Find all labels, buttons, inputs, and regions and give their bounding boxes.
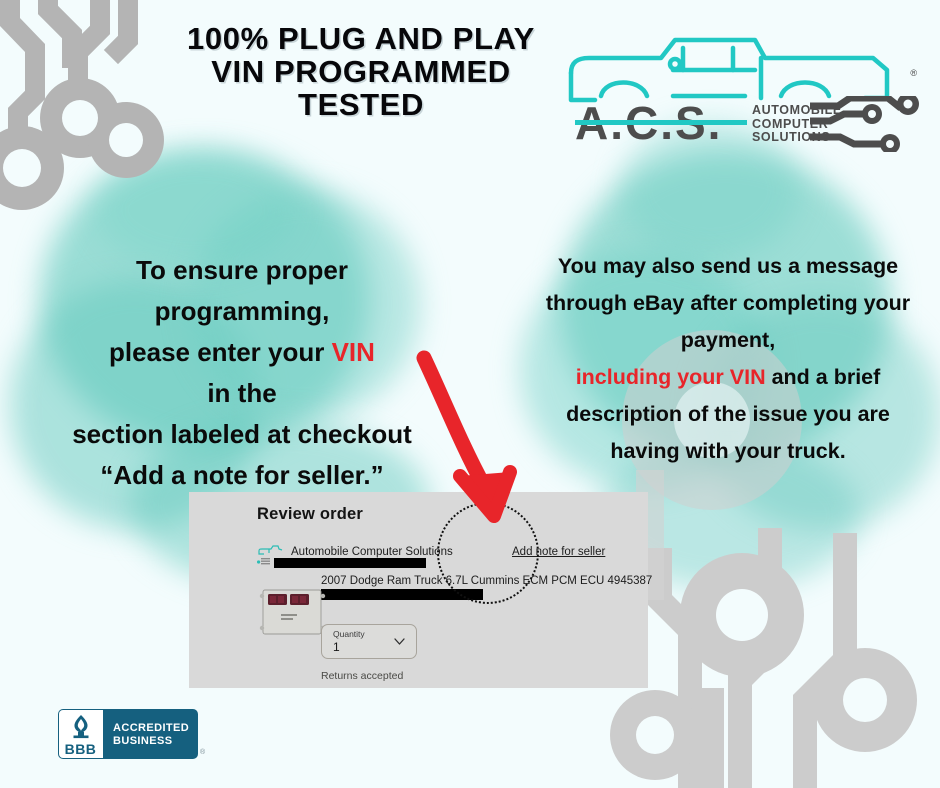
redacted-bar-seller (274, 558, 426, 568)
left-copy-line-3-text: please enter your (109, 337, 332, 367)
promotional-graphic: 100% PLUG AND PLAY VIN PROGRAMMED TESTED (0, 0, 940, 788)
headline-line-3: TESTED (118, 88, 604, 121)
seller-name: Automobile Computer Solutions (291, 546, 453, 558)
bbb-badge-line-2: BUSINESS (113, 735, 189, 748)
highlight-circle-annotation (437, 502, 539, 604)
headline-line-1: 100% PLUG AND PLAY (118, 22, 604, 55)
left-copy-line-3: please enter your VIN (22, 332, 462, 373)
left-copy-line-6: “Add a note for seller.” (22, 455, 462, 496)
right-copy-line-6: having with your truck. (528, 433, 928, 470)
vin-highlight: including your VIN (576, 365, 766, 389)
bbb-letters: BBB (62, 741, 99, 757)
bbb-badge-line-1: ACCREDITED (113, 722, 189, 735)
review-order-heading: Review order (257, 505, 363, 524)
left-copy-line-4: in the (22, 373, 462, 414)
left-copy-block: To ensure proper programming, please ent… (22, 250, 462, 496)
ecm-module-thumbnail (257, 586, 329, 638)
right-copy-line-4-text: and a brief (766, 365, 881, 389)
right-copy-line-1: You may also send us a message (528, 248, 928, 285)
chevron-down-icon (394, 636, 405, 647)
headline: 100% PLUG AND PLAY VIN PROGRAMMED TESTED (118, 22, 604, 121)
right-copy-block: You may also send us a message through e… (528, 248, 928, 470)
bbb-accredited-business-badge: BBB ACCREDITED BUSINESS ® (58, 709, 198, 759)
acs-underline (575, 120, 755, 128)
registered-mark: ® (910, 68, 917, 78)
right-copy-line-2: through eBay after completing your (528, 285, 928, 322)
acs-logo: ® A.C.S. AUTOMOBILE COMPUTER SOLUTIONS (565, 28, 925, 153)
right-copy-line-4: including your VIN and a brief (528, 359, 928, 396)
left-copy-line-5: section labeled at checkout (22, 414, 462, 455)
quantity-label: Quantity (333, 629, 365, 639)
bbb-torch-icon (69, 714, 93, 742)
quantity-value: 1 (333, 640, 340, 654)
returns-accepted-text: Returns accepted (321, 670, 403, 682)
circuit-motif-icon (810, 96, 925, 152)
left-copy-line-2: programming, (22, 291, 462, 332)
quantity-select[interactable]: Quantity 1 (321, 624, 417, 659)
vin-highlight: VIN (332, 337, 375, 367)
checkout-screenshot-panel: Review order Automobile Computer Solutio… (189, 492, 648, 688)
right-copy-line-5: description of the issue you are (528, 396, 928, 433)
bbb-registered-mark: ® (200, 749, 205, 756)
headline-line-2: VIN PROGRAMMED (118, 55, 604, 88)
right-copy-line-3: payment, (528, 322, 928, 359)
left-copy-line-1: To ensure proper (22, 250, 462, 291)
bbb-badge-text: ACCREDITED BUSINESS (113, 722, 189, 748)
